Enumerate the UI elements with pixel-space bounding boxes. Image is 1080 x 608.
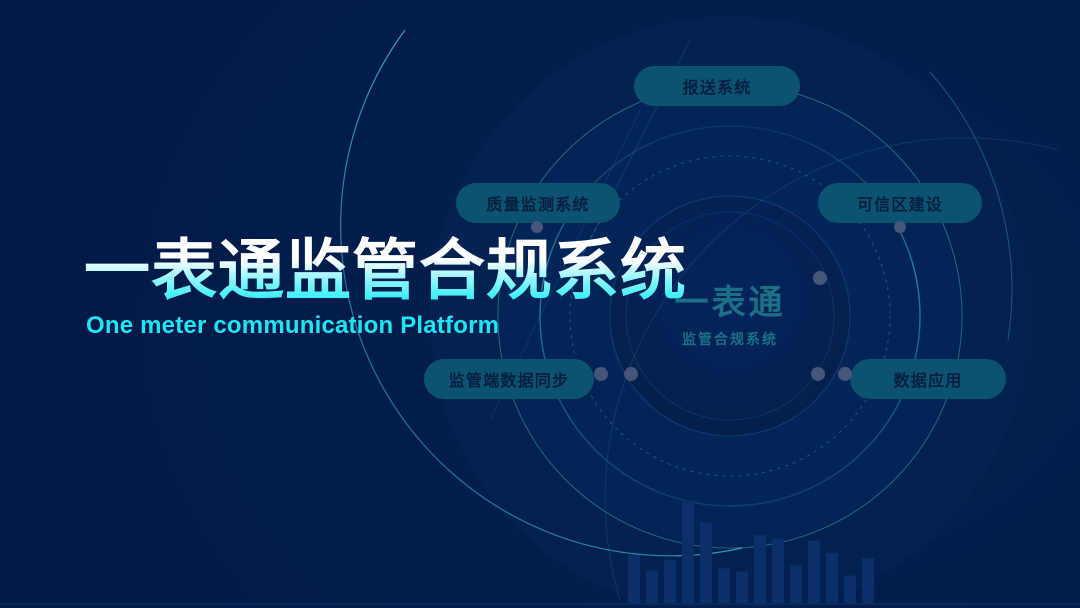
connector-dot — [838, 367, 852, 381]
chart-bar — [718, 568, 730, 604]
connector-dot — [813, 271, 827, 285]
chart-bar — [772, 539, 784, 604]
connector-dot — [811, 367, 825, 381]
node-pill-kexinqu[interactable]: 可信区建设 — [818, 183, 982, 223]
node-pill-baosong[interactable]: 报送系统 — [634, 66, 800, 106]
page-subtitle: One meter communication Platform — [86, 312, 687, 340]
chart-bar — [790, 565, 802, 604]
connector-dot — [894, 221, 906, 233]
slide-canvas: 一表通 监管合规系统 报送系统 质量监测系统 可信区建设 监管端数据同步 数据应… — [0, 0, 1080, 608]
page-title: 一表通监管合规系统 — [84, 236, 687, 306]
chart-bar — [862, 558, 874, 604]
connector-dot — [624, 367, 638, 381]
chart-bar — [628, 555, 640, 604]
node-pill-shuju[interactable]: 数据应用 — [850, 359, 1006, 399]
chart-bar — [754, 535, 766, 604]
chart-bar — [808, 541, 820, 604]
chart-bar — [844, 575, 856, 604]
chart-bar — [736, 571, 748, 604]
chart-bar — [664, 560, 676, 604]
chart-bar — [682, 500, 694, 604]
connector-dot — [531, 221, 543, 233]
connector-dot — [594, 367, 608, 381]
chart-bar — [700, 523, 712, 604]
title-block: 一表通监管合规系统 One meter communication Platfo… — [84, 236, 687, 340]
chart-bar — [826, 553, 838, 604]
chart-bar — [646, 570, 658, 604]
decorative-bar-chart — [628, 500, 874, 604]
node-pill-tongbu[interactable]: 监管端数据同步 — [424, 359, 594, 399]
node-pill-zhiliang[interactable]: 质量监测系统 — [456, 183, 620, 223]
